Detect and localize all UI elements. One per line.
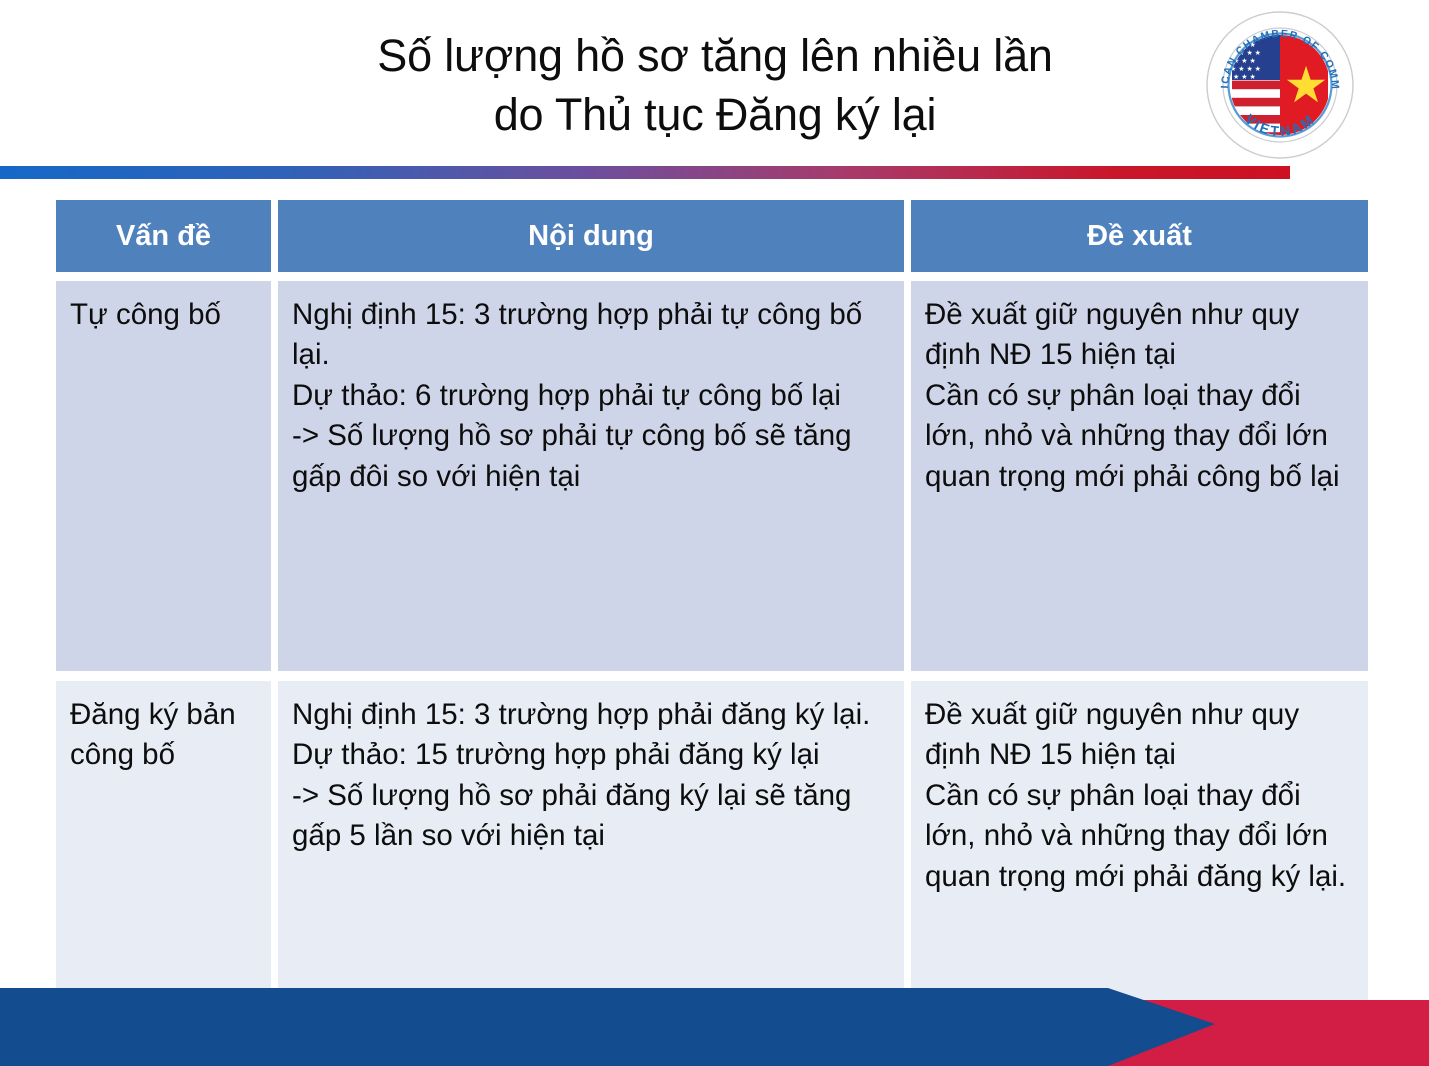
title-line-2: do Thủ tục Đăng ký lại bbox=[180, 85, 1250, 144]
column-header-content: Nội dung bbox=[278, 200, 911, 281]
content-line: Nghị định 15: 3 trường hợp phải tự công … bbox=[292, 295, 888, 376]
title-line-1: Số lượng hồ sơ tăng lên nhiều lần bbox=[180, 26, 1250, 85]
cell-content: Nghị định 15: 3 trường hợp phải tự công … bbox=[278, 281, 911, 681]
content-line: Nghị định 15: 3 trường hợp phải đăng ký … bbox=[292, 695, 888, 735]
issue-text: Đăng ký bản công bố bbox=[70, 695, 255, 776]
cell-issue: Tự công bố bbox=[56, 281, 278, 681]
proposal-line: Đề xuất giữ nguyên như quy định NĐ 15 hi… bbox=[925, 295, 1352, 376]
svg-text:★: ★ bbox=[1284, 57, 1329, 113]
proposal-line: Đề xuất giữ nguyên như quy định NĐ 15 hi… bbox=[925, 695, 1352, 776]
content-line: Dự thảo: 6 trường hợp phải tự công bố lạ… bbox=[292, 376, 888, 416]
table-header-row: Vấn đề Nội dung Đề xuất bbox=[56, 200, 1368, 281]
content-line: -> Số lượng hồ sơ phải tự công bố sẽ tăn… bbox=[292, 416, 888, 497]
proposal-line: Cần có sự phân loại thay đổi lớn, nhỏ và… bbox=[925, 776, 1352, 897]
page-title: Số lượng hồ sơ tăng lên nhiều lần do Thủ… bbox=[180, 26, 1250, 145]
footer-banner bbox=[0, 975, 1429, 1066]
cell-proposal: Đề xuất giữ nguyên như quy định NĐ 15 hi… bbox=[911, 281, 1368, 681]
proposal-line: Cần có sự phân loại thay đổi lớn, nhỏ và… bbox=[925, 376, 1352, 497]
footer-banner-blue-arrow bbox=[0, 988, 1215, 1066]
issue-text: Tự công bố bbox=[70, 295, 255, 335]
svg-text:★ ★ ★: ★ ★ ★ bbox=[1233, 73, 1256, 81]
issues-table: Vấn đề Nội dung Đề xuất Tự công bố Nghị … bbox=[56, 200, 1368, 1043]
content-line: Dự thảo: 15 trường hợp phải đăng ký lại bbox=[292, 735, 888, 775]
amcham-vietnam-logo-icon: ★ ★ ★ ★ ★ ★ ★ ★ ★ ★ ★ ★ ★ ★ ★ ★ ★ ★ ★ ★ … bbox=[1204, 9, 1356, 161]
header-gradient-divider bbox=[0, 166, 1290, 179]
content-line: -> Số lượng hồ sơ phải đăng ký lại sẽ tă… bbox=[292, 776, 888, 857]
column-header-issue: Vấn đề bbox=[56, 200, 278, 281]
table-row: Tự công bố Nghị định 15: 3 trường hợp ph… bbox=[56, 281, 1368, 681]
column-header-proposal: Đề xuất bbox=[911, 200, 1368, 281]
